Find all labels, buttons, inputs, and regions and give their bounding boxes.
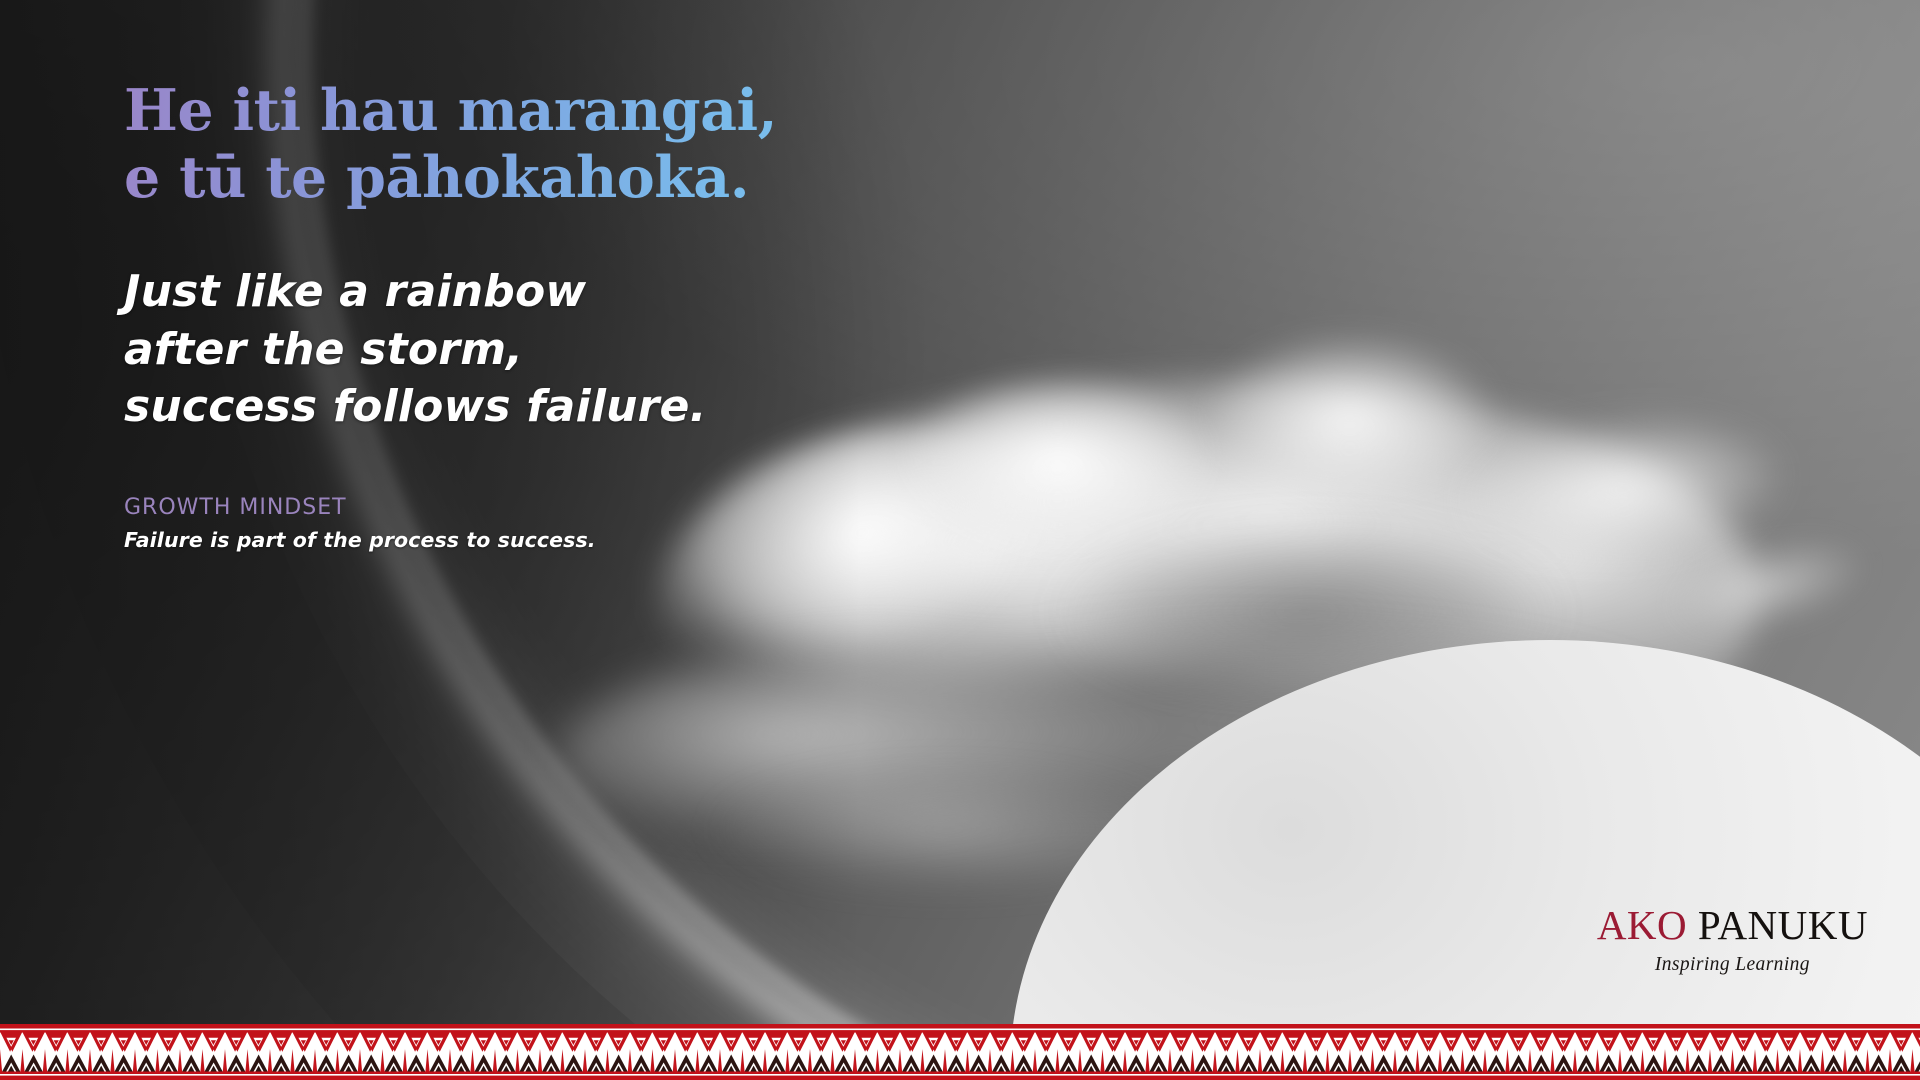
logo-wordmark: AKO PANUKU [1597,905,1868,946]
logo-word-panuku: PANUKU [1698,902,1868,948]
taniko-svg [0,1024,1920,1080]
translation-line-3: success follows failure. [124,378,884,435]
logo-strapline: Inspiring Learning [1597,955,1868,975]
poster-canvas: He iti hau marangai, e tū te pāhokahoka.… [0,0,1920,1080]
whakatauki-maori-proverb: He iti hau marangai, e tū te pāhokahoka. [124,78,884,211]
whakatauki-line-1: He iti hau marangai, [124,78,884,145]
english-translation: Just like a rainbow after the storm, suc… [124,263,884,435]
theme-kicker-label: GROWTH MINDSET [124,495,884,520]
translation-line-2: after the storm, [124,321,884,378]
text-content-block: He iti hau marangai, e tū te pāhokahoka.… [124,78,884,552]
ako-panuku-logo[interactable]: AKO PANUKU Inspiring Learning [1597,905,1868,975]
taniko-border-pattern [0,1024,1920,1080]
theme-tagline: Failure is part of the process to succes… [124,528,884,552]
logo-word-ako: AKO [1597,902,1687,948]
whakatauki-line-2: e tū te pāhokahoka. [124,145,884,212]
translation-line-1: Just like a rainbow [124,263,884,320]
